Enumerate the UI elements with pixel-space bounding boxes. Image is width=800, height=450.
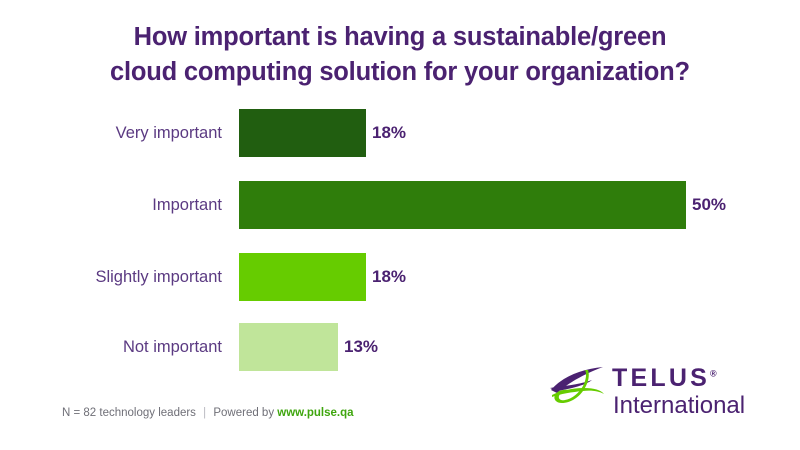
source-link-pulse-qa[interactable]: www.pulse.qa <box>277 407 353 419</box>
telus-wordmark-text: TELUS <box>612 364 710 392</box>
category-label-important: Important <box>30 180 222 230</box>
chart-row: Slightly important 18% <box>0 252 800 302</box>
footnote: N = 82 technology leaders | Powered by w… <box>62 407 354 419</box>
category-label-slightly-important: Slightly important <box>30 252 222 302</box>
bar-not-important <box>239 323 338 371</box>
chart-row: Very important 18% <box>0 108 800 158</box>
value-label-slightly-important: 18% <box>372 252 406 302</box>
telus-subtitle: International <box>613 394 745 418</box>
category-label-very-important: Very important <box>30 108 222 158</box>
page-title: How important is having a sustainable/gr… <box>40 20 760 90</box>
footnote-separator: | <box>199 407 210 419</box>
chart-row: Important 50% <box>0 180 800 230</box>
bar-very-important <box>239 109 366 157</box>
sample-size-text: N = 82 technology leaders <box>62 407 196 419</box>
slide-canvas: How important is having a sustainable/gr… <box>0 0 800 450</box>
registered-mark: ® <box>710 369 717 379</box>
value-label-important: 50% <box>692 180 726 230</box>
powered-by-text: Powered by <box>213 407 274 419</box>
telus-international-logo: TELUS® International <box>548 362 753 424</box>
bar-important <box>239 181 686 229</box>
title-line-2: cloud computing solution for your organi… <box>40 55 760 90</box>
telus-swoosh-icon <box>548 364 610 408</box>
category-label-not-important: Not important <box>30 322 222 372</box>
bar-chart: Very important 18% Important 50% Slightl… <box>0 108 800 383</box>
title-line-1: How important is having a sustainable/gr… <box>40 20 760 55</box>
value-label-not-important: 13% <box>344 322 378 372</box>
bar-slightly-important <box>239 253 366 301</box>
telus-wordmark: TELUS® <box>612 366 717 391</box>
value-label-very-important: 18% <box>372 108 406 158</box>
